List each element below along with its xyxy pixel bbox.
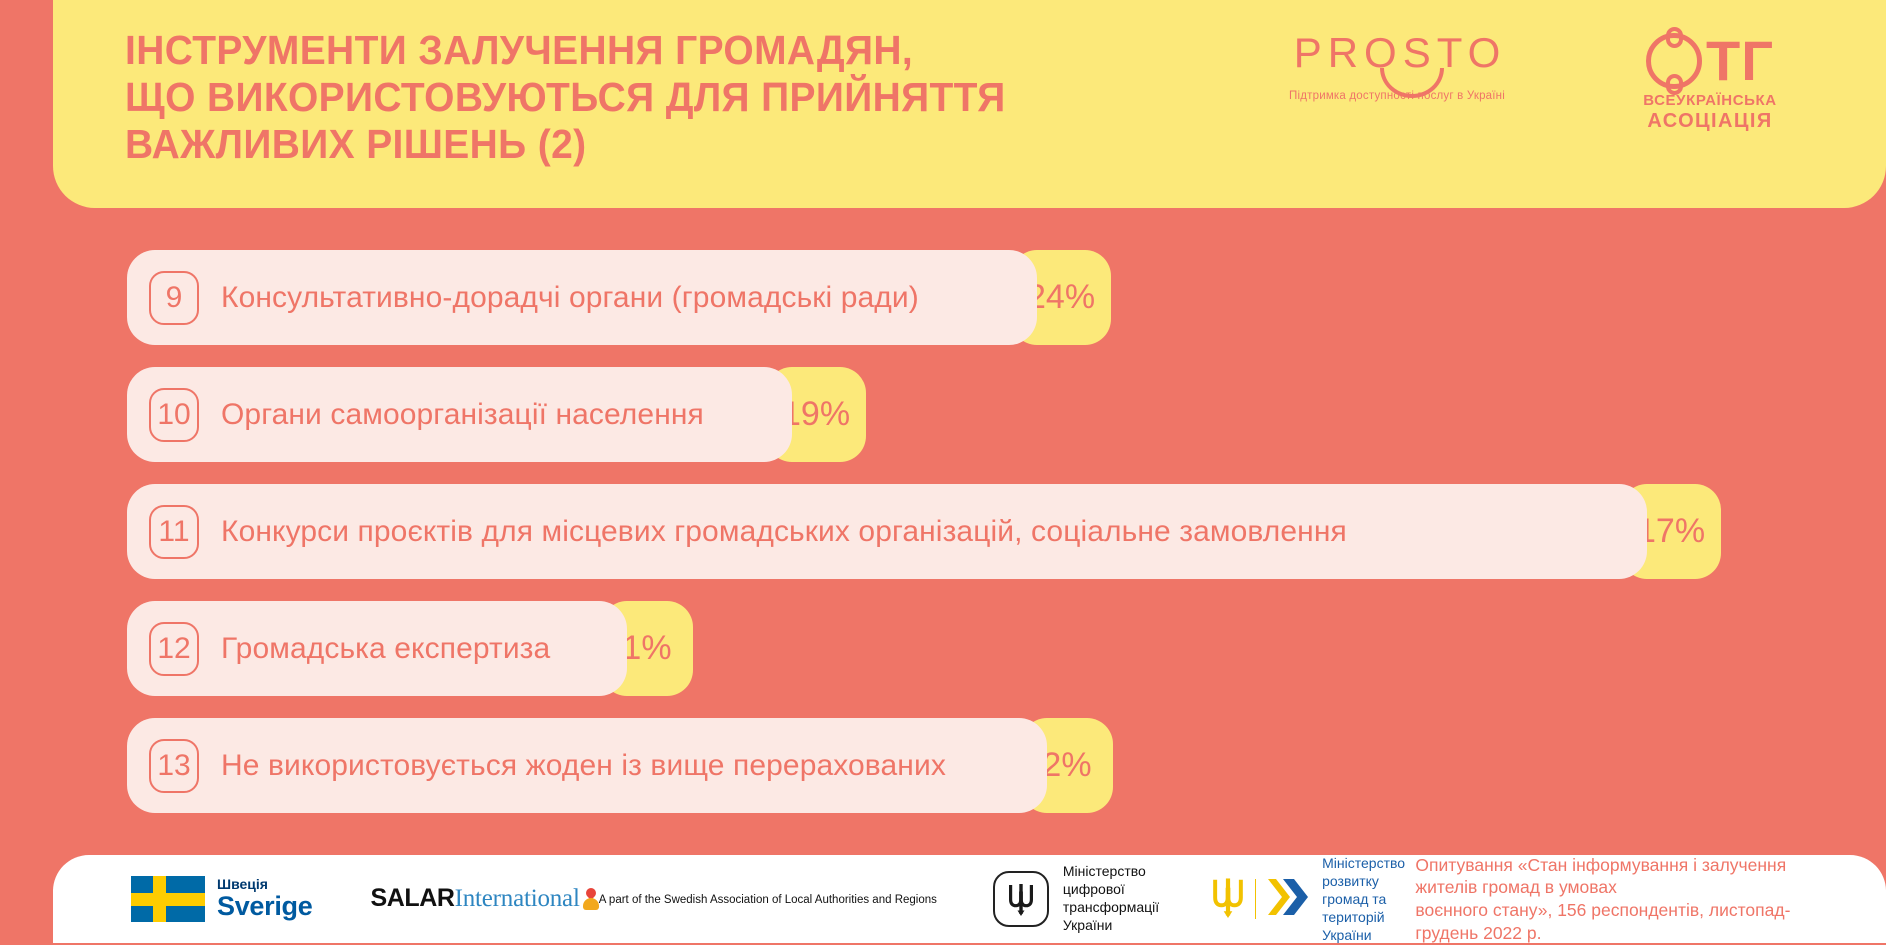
sweden-label-sv: Sverige bbox=[217, 892, 312, 920]
footer-bar: Швеція Sverige SALARInternational A part… bbox=[53, 855, 1886, 943]
bar-track: 12 Громадська експертиза bbox=[127, 601, 627, 696]
ministry-digital-transformation-logo: Міністерство цифрової трансформації Укра… bbox=[993, 863, 1159, 935]
otg-logo: ТГ ВСЕУКРАЇНСЬКА АСОЦІАЦІЯ bbox=[1612, 32, 1808, 133]
otg-line2: АСОЦІАЦІЯ bbox=[1612, 110, 1808, 133]
rank-badge: 9 bbox=[149, 271, 199, 325]
item-label: Не використовується жоден із вище перера… bbox=[221, 749, 946, 783]
ministry-communities-label: Міністерство розвитку громад та територі… bbox=[1322, 854, 1415, 945]
bar-track: 13 Не використовується жоден із вище пер… bbox=[127, 718, 1047, 813]
bar-track: 11 Конкурси проєктів для місцевих громад… bbox=[127, 484, 1647, 579]
table-row: 11 Конкурси проєктів для місцевих громад… bbox=[0, 484, 1886, 579]
trident-icon bbox=[993, 871, 1049, 927]
item-label: Консультативно-дорадчі органи (громадськ… bbox=[221, 281, 919, 315]
sweden-flag-icon bbox=[131, 876, 205, 922]
item-label: Конкурси проєктів для місцевих громадськ… bbox=[221, 515, 1347, 549]
infographic-canvas: ІНСТРУМЕНТИ ЗАЛУЧЕННЯ ГРОМАДЯН, ЩО ВИКОР… bbox=[0, 0, 1886, 943]
sweden-label-uk: Швеція bbox=[217, 877, 312, 892]
header-panel: ІНСТРУМЕНТИ ЗАЛУЧЕННЯ ГРОМАДЯН, ЩО ВИКОР… bbox=[53, 0, 1886, 208]
prosto-logo: PROSTO Підтримка доступності послуг в Ук… bbox=[1286, 32, 1508, 102]
otg-line1: ВСЕУКРАЇНСЬКА bbox=[1612, 92, 1808, 109]
table-row: 9 Консультативно-дорадчі органи (громадс… bbox=[0, 250, 1886, 345]
rank-badge: 11 bbox=[149, 505, 199, 559]
salar-international-logo: SALARInternational A part of the Swedish… bbox=[370, 885, 936, 912]
rank-badge: 13 bbox=[149, 739, 199, 793]
table-row: 13 Не використовується жоден із вище пер… bbox=[0, 718, 1886, 813]
chevron-arrow-icon bbox=[1266, 876, 1312, 923]
divider bbox=[1255, 879, 1256, 919]
otg-letters: ТГ bbox=[1706, 33, 1774, 89]
item-label: Органи самоорганізації населення bbox=[221, 398, 704, 432]
trident-yellow-icon bbox=[1211, 876, 1245, 923]
map-pin-person-icon bbox=[583, 888, 599, 910]
bar-track: 9 Консультативно-дорадчі органи (громадс… bbox=[127, 250, 1037, 345]
page-title: ІНСТРУМЕНТИ ЗАЛУЧЕННЯ ГРОМАДЯН, ЩО ВИКОР… bbox=[125, 27, 1006, 168]
item-label: Громадська експертиза bbox=[221, 632, 550, 666]
rank-badge: 12 bbox=[149, 622, 199, 676]
table-row: 12 Громадська експертиза 1% bbox=[0, 601, 1886, 696]
ministry-communities-logo: Міністерство розвитку громад та територі… bbox=[1211, 854, 1415, 945]
ministry-digital-label: Міністерство цифрової трансформації Укра… bbox=[1063, 863, 1159, 935]
rank-badge: 10 bbox=[149, 388, 199, 442]
salar-international-word: International bbox=[455, 885, 580, 912]
salar-name: SALAR bbox=[370, 884, 454, 912]
bar-track: 10 Органи самоорганізації населення bbox=[127, 367, 792, 462]
table-row: 10 Органи самоорганізації населення 19% bbox=[0, 367, 1886, 462]
sweden-logo: Швеція Sverige bbox=[131, 876, 312, 922]
bar-list: 9 Консультативно-дорадчі органи (громадс… bbox=[0, 250, 1886, 835]
survey-note: Опитування «Стан інформування і залученн… bbox=[1415, 854, 1814, 945]
salar-subtitle: A part of the Swedish Association of Loc… bbox=[599, 894, 937, 906]
otg-chain-ring-icon bbox=[1646, 33, 1702, 89]
